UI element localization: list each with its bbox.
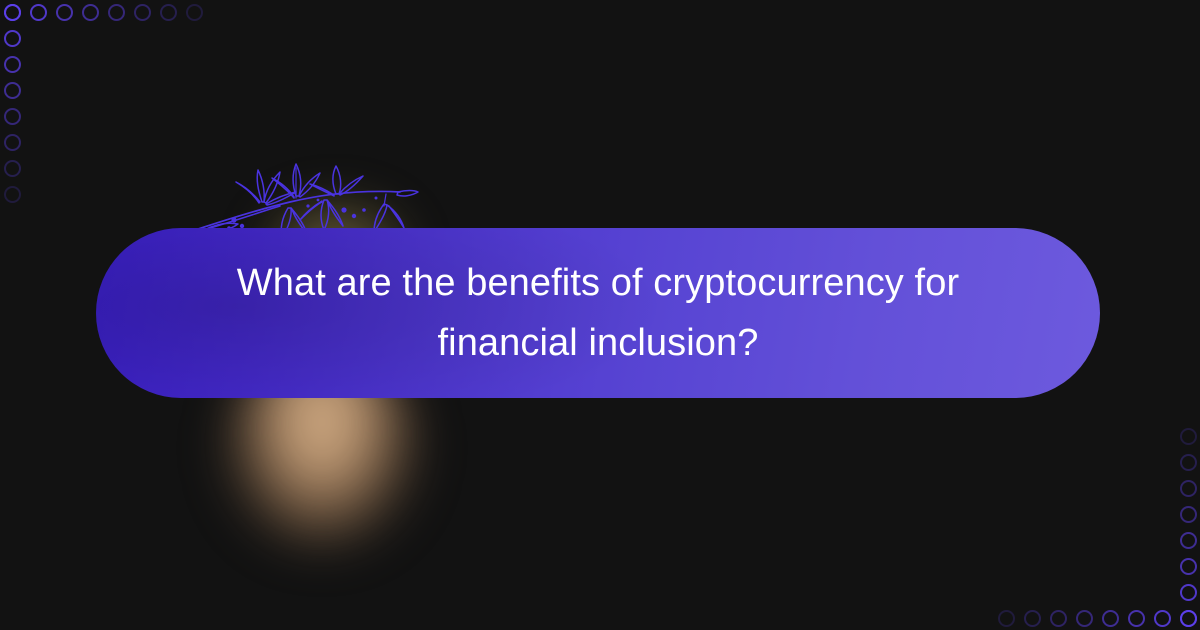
- decorative-dot: [82, 4, 99, 21]
- decorative-dot: [1180, 480, 1197, 497]
- decorative-dot: [1102, 610, 1119, 627]
- decorative-dot: [160, 4, 177, 21]
- decorative-dot: [134, 4, 151, 21]
- decorative-dot: [1180, 610, 1197, 627]
- decorative-dot: [4, 186, 21, 203]
- decorative-dot: [186, 4, 203, 21]
- decorative-dot: [1050, 610, 1067, 627]
- question-text: What are the benefits of cryptocurrency …: [96, 228, 1100, 398]
- question-line-2: financial inclusion?: [438, 314, 759, 372]
- decorative-dot: [1180, 584, 1197, 601]
- decorative-dot: [4, 108, 21, 125]
- decorative-dot: [1180, 454, 1197, 471]
- decorative-dot: [1128, 610, 1145, 627]
- decorative-dot: [1180, 428, 1197, 445]
- decorative-dot: [4, 134, 21, 151]
- decorative-dot: [1024, 610, 1041, 627]
- question-card-canvas: What are the benefits of cryptocurrency …: [0, 0, 1200, 630]
- decorative-dot: [108, 4, 125, 21]
- decorative-dot: [1180, 610, 1197, 627]
- decorative-dot: [4, 4, 21, 21]
- decorative-dot: [1180, 532, 1197, 549]
- question-line-1: What are the benefits of cryptocurrency …: [237, 254, 959, 312]
- decorative-dot: [1180, 506, 1197, 523]
- decorative-dot: [4, 4, 21, 21]
- decorative-dot: [1154, 610, 1171, 627]
- decorative-dot: [1180, 558, 1197, 575]
- decorative-dot: [4, 160, 21, 177]
- decorative-dot: [4, 56, 21, 73]
- decorative-dot: [1076, 610, 1093, 627]
- decorative-dot: [56, 4, 73, 21]
- decorative-dot: [998, 610, 1015, 627]
- decorative-dot: [30, 4, 47, 21]
- decorative-dot: [4, 82, 21, 99]
- decorative-dot: [4, 30, 21, 47]
